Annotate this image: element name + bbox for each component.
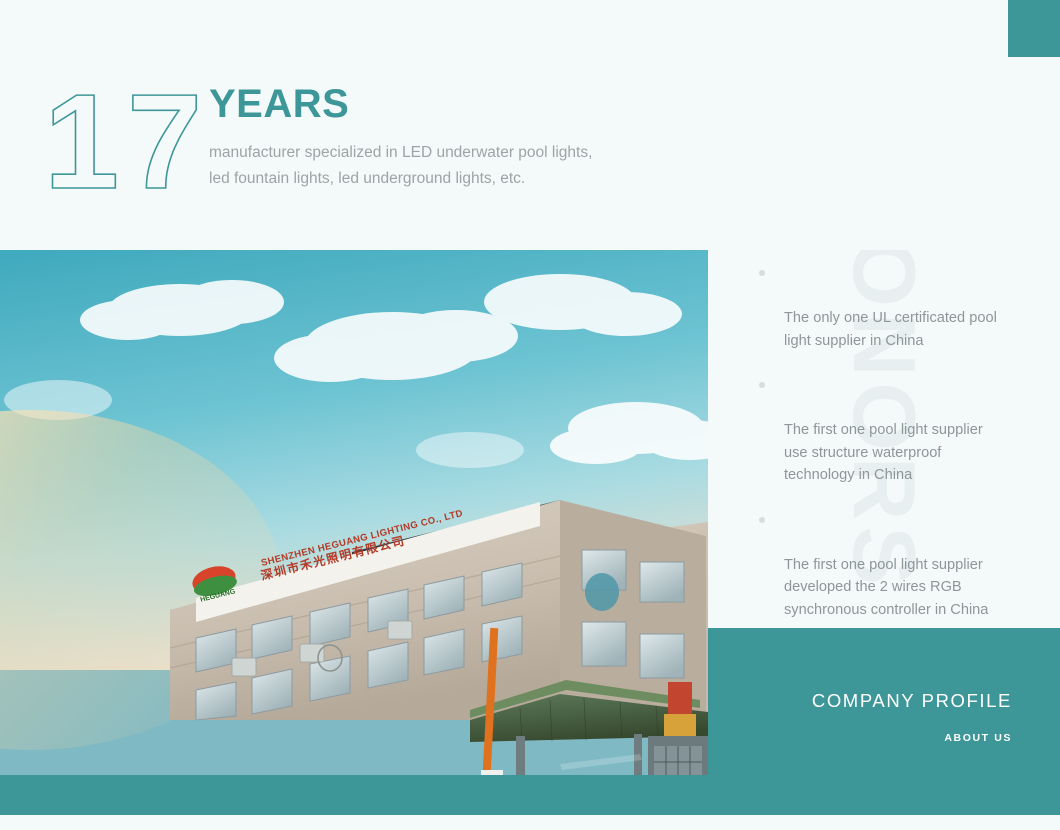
company-profile-title: COMPANY PROFILE bbox=[812, 690, 1012, 712]
years-count-outline: 17 bbox=[44, 78, 204, 206]
bullet-icon bbox=[759, 382, 765, 388]
honors-panel: HONORS The only one UL certificated pool… bbox=[708, 250, 1060, 628]
honor-text: The only one UL certificated pool light … bbox=[784, 310, 997, 349]
list-item: The first one pool light supplier use st… bbox=[708, 374, 1060, 487]
list-item: The only one UL certificated pool light … bbox=[708, 262, 1060, 352]
honor-text: The first one pool light supplier develo… bbox=[784, 557, 988, 618]
bullet-icon bbox=[759, 270, 765, 276]
about-us-label: ABOUT US bbox=[944, 732, 1012, 744]
page-title: YEARS bbox=[209, 84, 769, 124]
honors-list: The only one UL certificated pool light … bbox=[708, 250, 1060, 628]
header-section: 17 YEARS manufacturer specialized in LED… bbox=[0, 0, 1060, 250]
factory-photo: HEGUANG SHENZHEN HEGUANG LIGHTING CO., L… bbox=[0, 250, 708, 775]
honor-text: The first one pool light supplier use st… bbox=[784, 422, 983, 483]
years-count-text: 17 bbox=[44, 66, 210, 217]
page-subtitle: manufacturer specialized in LED underwat… bbox=[209, 140, 769, 192]
header-text-block: YEARS manufacturer specialized in LED un… bbox=[209, 84, 769, 192]
list-item: The first one pool light supplier develo… bbox=[708, 509, 1060, 622]
bottom-accent-bar bbox=[0, 775, 1060, 815]
bullet-icon bbox=[759, 517, 765, 523]
